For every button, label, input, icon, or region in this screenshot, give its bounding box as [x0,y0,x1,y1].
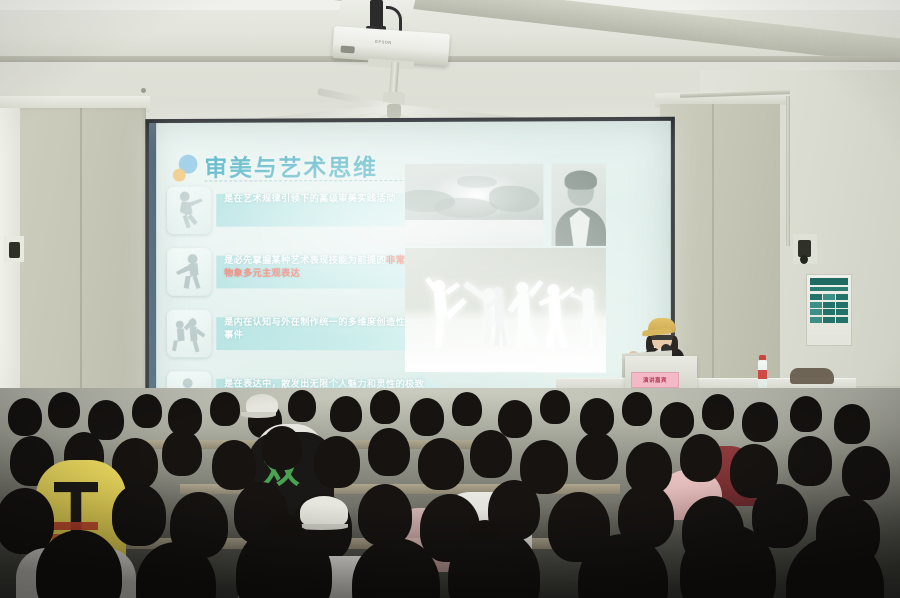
podium-sign-text: 演讲嘉宾 [643,376,667,384]
notice-row [810,317,822,323]
shirt-graphic-stripe [50,522,98,530]
mountain-shape [457,176,497,188]
audience-head [580,398,614,436]
notice-row [810,309,822,315]
notice-row [823,317,835,323]
notice-row [823,302,835,308]
dance-performance-photo [405,248,606,373]
glasses-icon [651,335,673,340]
audience-head [262,426,302,470]
notice-board-subheader [810,287,848,291]
notice-row [823,294,835,300]
audience-head [410,398,444,436]
bullet-text: 是内在认知与外在制作统一的多维度创造性活动事件 [224,316,428,343]
slide-top-images [405,163,606,246]
audience-head [702,394,734,430]
wall-fixture-dot [141,88,146,93]
audience-head [0,488,54,554]
bullet-text: 是必先掌握某种艺术表现技能为前提的非常规性物象多元主观表达 [224,254,428,281]
notice-row [836,294,848,300]
wall-sensor-icon [9,242,20,258]
slide-title: 审美与艺术思维 [204,148,378,182]
audience-head [8,398,42,436]
audience-head [576,432,618,480]
notice-board-header [810,278,848,285]
notice-row [810,294,822,300]
dancer-figure-icon [167,248,211,296]
presentation-slide: 审美与艺术思维 [149,121,671,413]
portrait-photo [551,163,606,246]
projector-brand-label: EPSON [375,39,392,45]
podium-sign: 演讲嘉宾 [631,372,679,388]
bullet-text-prefix: 是必先掌握某种艺术表现技能为前提的 [224,255,386,265]
dancer-figure [483,276,517,348]
audience-head [314,436,360,488]
bullet-text: 是在艺术规律引领下的高级审美实践活动 [224,192,428,206]
audience-head [540,390,570,424]
audience-head [210,392,240,426]
dancer-figure [566,276,606,350]
landscape-photo [405,164,543,246]
ceiling-fan-motor [387,104,401,118]
audience-head [622,392,652,426]
audience-head [330,396,362,432]
mountain-shape [435,198,497,218]
audience-head [112,484,166,546]
notice-board-rows [810,294,848,323]
lecture-hall-photo: EPSON [0,0,900,598]
audience-head [288,390,316,422]
white-baseball-cap [300,496,348,528]
slide-left-accent-bar [149,123,156,411]
portrait-hair [565,170,597,189]
audience-head [742,402,778,442]
audience-head [788,436,832,486]
audience-head [790,396,822,432]
mountain-shape [489,186,539,212]
circle-decoration-icon [173,169,186,182]
notice-row [823,309,835,315]
audience-head [48,392,80,428]
dancer-group-icon [167,310,211,358]
hair-bun [268,514,302,538]
camera-lens-icon [800,255,808,264]
audience-head [834,404,870,444]
dancer-figure-icon [167,186,211,234]
audience-head [162,430,202,476]
bottle-label [758,370,767,379]
notice-row [836,302,848,308]
audience-head [368,428,410,476]
conduit-vertical [786,96,790,246]
audience-head [418,438,464,490]
audience-head [660,402,694,438]
audience-head [452,392,482,426]
notice-row [836,317,848,323]
projector-lens [340,46,354,54]
audience-head [212,440,256,490]
hair-bun [470,520,500,542]
water-reflection [405,220,543,246]
audience-head [680,434,722,482]
audience-head [358,484,412,546]
audience-head [470,430,512,478]
audience-head [370,390,400,424]
notice-row [836,309,848,315]
audience: 双 [0,388,900,598]
audience-head [842,446,890,500]
wall-notice-board [806,274,852,346]
audience-head [132,394,162,428]
desk-bag [790,368,834,384]
projection-screen: 审美与艺术思维 [149,121,671,413]
notice-row [810,302,822,308]
audience-head [498,400,532,438]
